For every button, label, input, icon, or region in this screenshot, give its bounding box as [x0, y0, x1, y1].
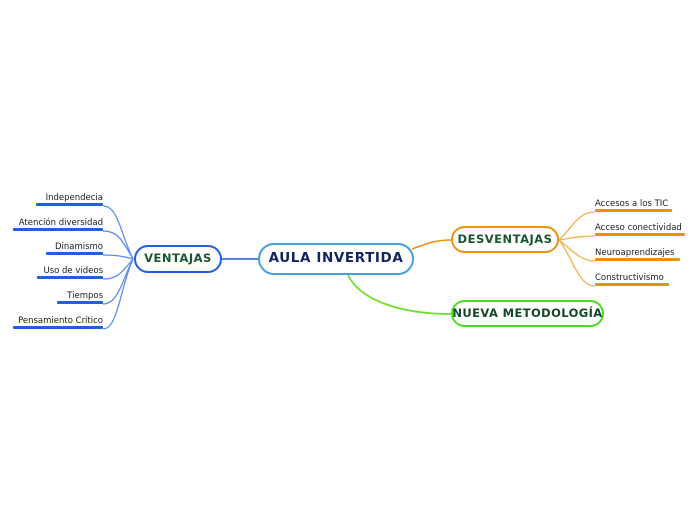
connector-leaf-pensamiento-critico — [103, 259, 133, 329]
node-aula-invertida[interactable]: AULA INVERTIDA — [258, 243, 414, 275]
leaf-dinamismo-label: Dinamismo — [55, 243, 103, 252]
connectors-desventajas-leaves — [559, 212, 595, 286]
leaf-acceso-conectividad[interactable]: Acceso conectividad — [595, 219, 685, 236]
connector-leaf-dinamismo — [103, 255, 133, 259]
leaf-dinamismo[interactable]: Dinamismo — [46, 238, 103, 255]
leaf-dinamismo-underline — [46, 252, 103, 255]
leaf-pensamiento-critico[interactable]: Pensamiento Crítico — [13, 312, 103, 329]
leaf-atencion-diversidad-label: Atención diversidad — [19, 219, 103, 228]
node-desventajas-label: DESVENTAJAS — [458, 234, 553, 246]
leaf-acceso-conectividad-underline — [595, 233, 685, 236]
connector-leaf-constructivismo — [559, 240, 595, 286]
leaf-uso-de-videos-underline — [37, 276, 103, 279]
leaf-neuroaprendizajes[interactable]: Neuroaprendizajes — [595, 244, 680, 261]
leaf-accesos-a-los-tic[interactable]: Accesos a los TIC — [595, 195, 672, 212]
leaf-uso-de-videos[interactable]: Uso de videos — [37, 262, 103, 279]
leaf-neuroaprendizajes-underline — [595, 258, 680, 261]
node-ventajas-label: VENTAJAS — [144, 253, 212, 265]
leaf-tiempos-label: Tiempos — [67, 292, 103, 301]
leaf-constructivismo[interactable]: Constructivismo — [595, 269, 669, 286]
leaf-independecia-underline — [36, 203, 103, 206]
connector-leaf-acceso-conectividad — [559, 236, 595, 240]
leaf-uso-de-videos-label: Uso de videos — [43, 267, 103, 276]
connector-leaf-tiempos — [103, 259, 133, 304]
connector-central-desventajas — [412, 240, 451, 249]
node-nueva-metodologia-label: NUEVA METODOLOGÍA — [452, 308, 602, 320]
connector-leaf-neuroaprendizajes — [559, 240, 595, 261]
leaf-independecia[interactable]: Independecia — [36, 189, 103, 206]
leaf-independecia-label: Independecia — [46, 194, 103, 203]
node-desventajas[interactable]: DESVENTAJAS — [451, 226, 559, 253]
leaf-atencion-diversidad[interactable]: Atención diversidad — [13, 214, 103, 231]
leaf-atencion-diversidad-underline — [13, 228, 103, 231]
leaf-neuroaprendizajes-label: Neuroaprendizajes — [595, 249, 674, 258]
connector-central-nueva-metodologia — [348, 275, 451, 314]
leaf-constructivismo-label: Constructivismo — [595, 274, 664, 283]
connectors-ventajas-leaves — [103, 206, 133, 329]
node-ventajas[interactable]: VENTAJAS — [134, 245, 222, 273]
leaf-acceso-conectividad-label: Acceso conectividad — [595, 224, 682, 233]
leaf-pensamiento-critico-label: Pensamiento Crítico — [18, 317, 103, 326]
node-nueva-metodologia[interactable]: NUEVA METODOLOGÍA — [451, 300, 604, 327]
leaf-accesos-a-los-tic-underline — [595, 209, 672, 212]
leaf-tiempos-underline — [57, 301, 103, 304]
leaf-constructivismo-underline — [595, 283, 669, 286]
leaf-accesos-a-los-tic-label: Accesos a los TIC — [595, 200, 668, 209]
node-aula-invertida-label: AULA INVERTIDA — [269, 252, 404, 266]
leaf-pensamiento-critico-underline — [13, 326, 103, 329]
leaf-tiempos[interactable]: Tiempos — [57, 287, 103, 304]
